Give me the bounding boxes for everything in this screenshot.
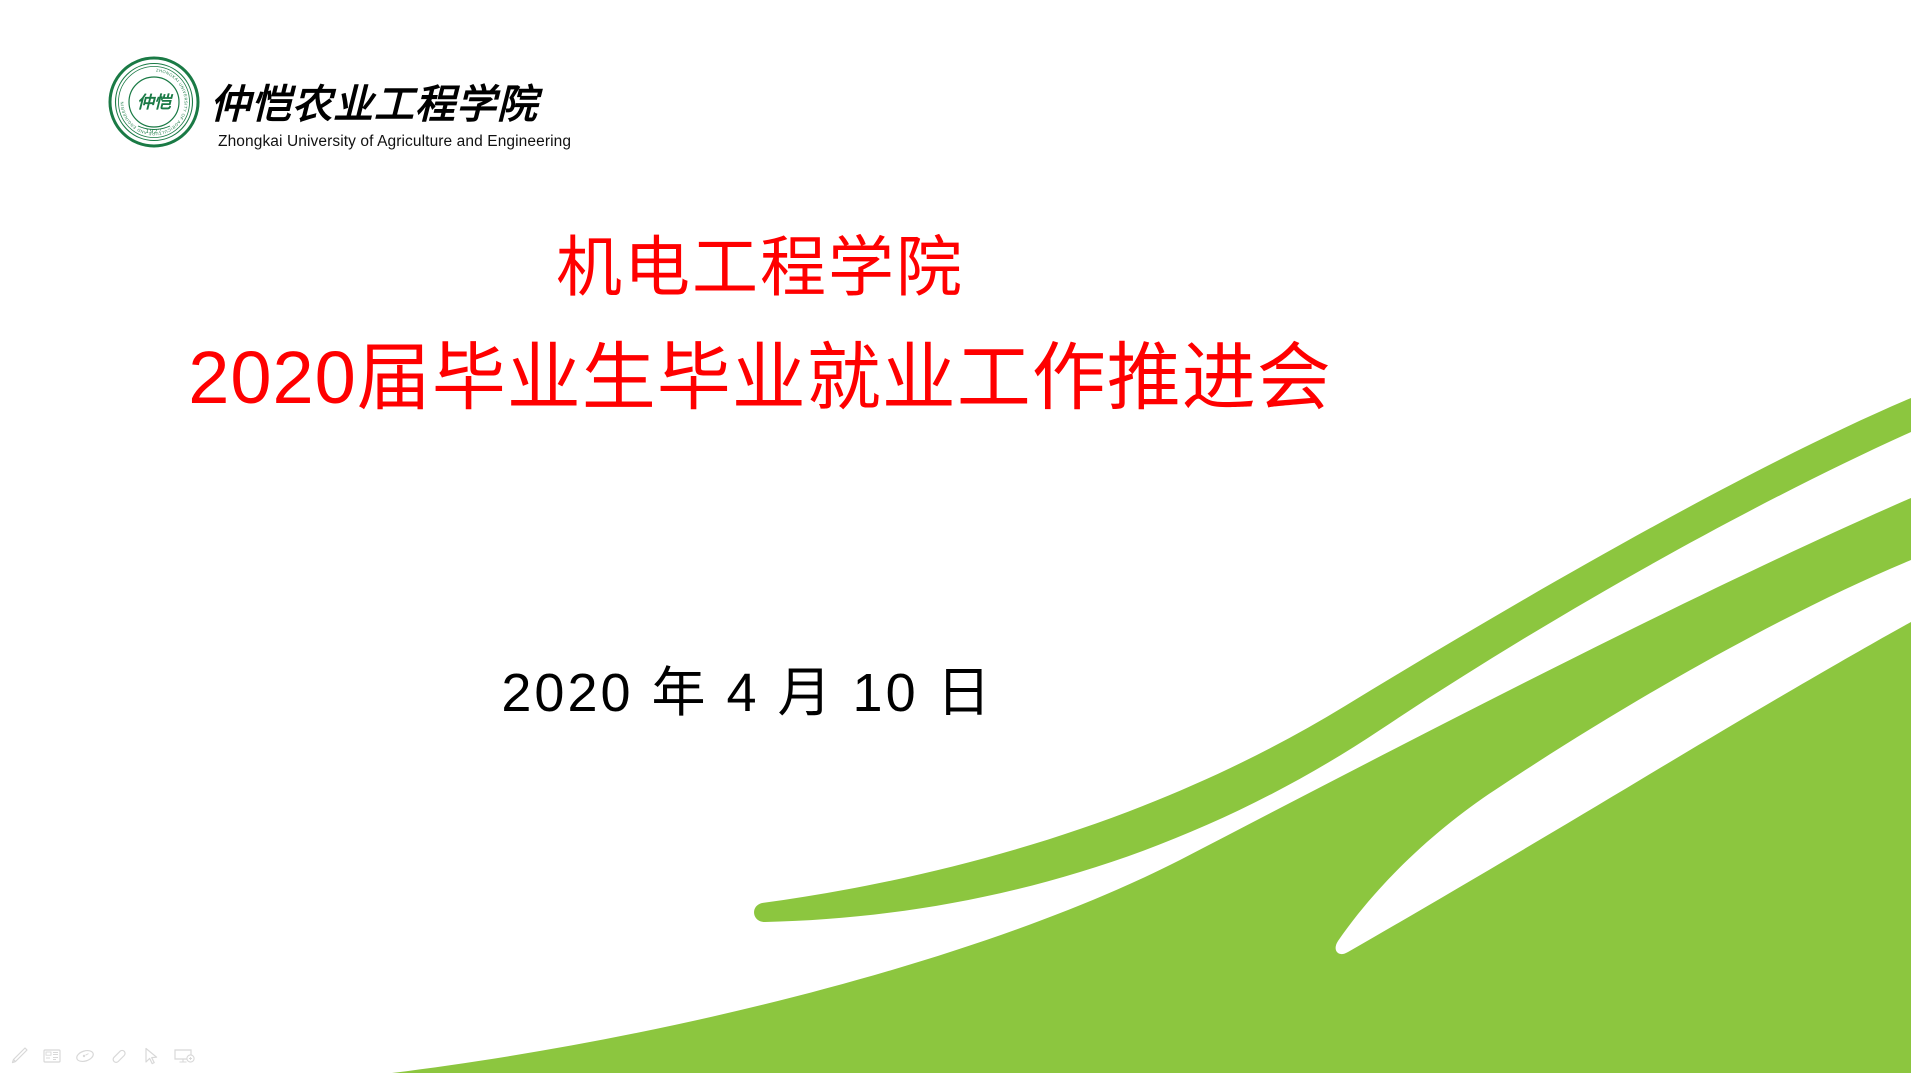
logo-text-group: 仲恺农业工程学院 Zhongkai University of Agricult… — [210, 74, 571, 151]
title-line-1: 机电工程学院 — [0, 226, 1520, 309]
slide-date-area: 2020 年 4 月 10 日 — [0, 648, 1495, 727]
logo-name-en: Zhongkai University of Agriculture and E… — [218, 133, 571, 151]
whiteboard-icon[interactable] — [39, 1043, 65, 1069]
screen-share-icon[interactable] — [171, 1043, 197, 1069]
green-body-shape — [392, 498, 1911, 1073]
eraser-icon[interactable] — [105, 1043, 131, 1069]
svg-text:仲恺农业工程学院: 仲恺农业工程学院 — [210, 82, 543, 127]
pen-icon[interactable] — [6, 1043, 32, 1069]
svg-text:仲恺: 仲恺 — [137, 93, 174, 112]
laser-pointer-icon[interactable] — [72, 1043, 98, 1069]
university-seal-icon: ZHONGKAI UNIVERSITY OF AGRICULTURE AND E… — [108, 56, 200, 148]
university-logo: ZHONGKAI UNIVERSITY OF AGRICULTURE AND E… — [108, 56, 571, 151]
white-gap-shape — [1336, 560, 1911, 954]
slide-date: 2020 年 4 月 10 日 — [0, 648, 1495, 727]
green-swoosh-decoration — [0, 0, 1911, 1073]
title-line-2: 2020届毕业生毕业就业工作推进会 — [0, 331, 1520, 424]
presentation-slide: ZHONGKAI UNIVERSITY OF AGRICULTURE AND E… — [0, 0, 1911, 1073]
cursor-arrow-icon[interactable] — [138, 1043, 164, 1069]
logo-name-cn-calligraphy: 仲恺农业工程学院 — [210, 74, 550, 132]
annotation-toolbar[interactable] — [6, 1043, 197, 1069]
slide-title-area: 机电工程学院 2020届毕业生毕业就业工作推进会 — [0, 226, 1520, 424]
